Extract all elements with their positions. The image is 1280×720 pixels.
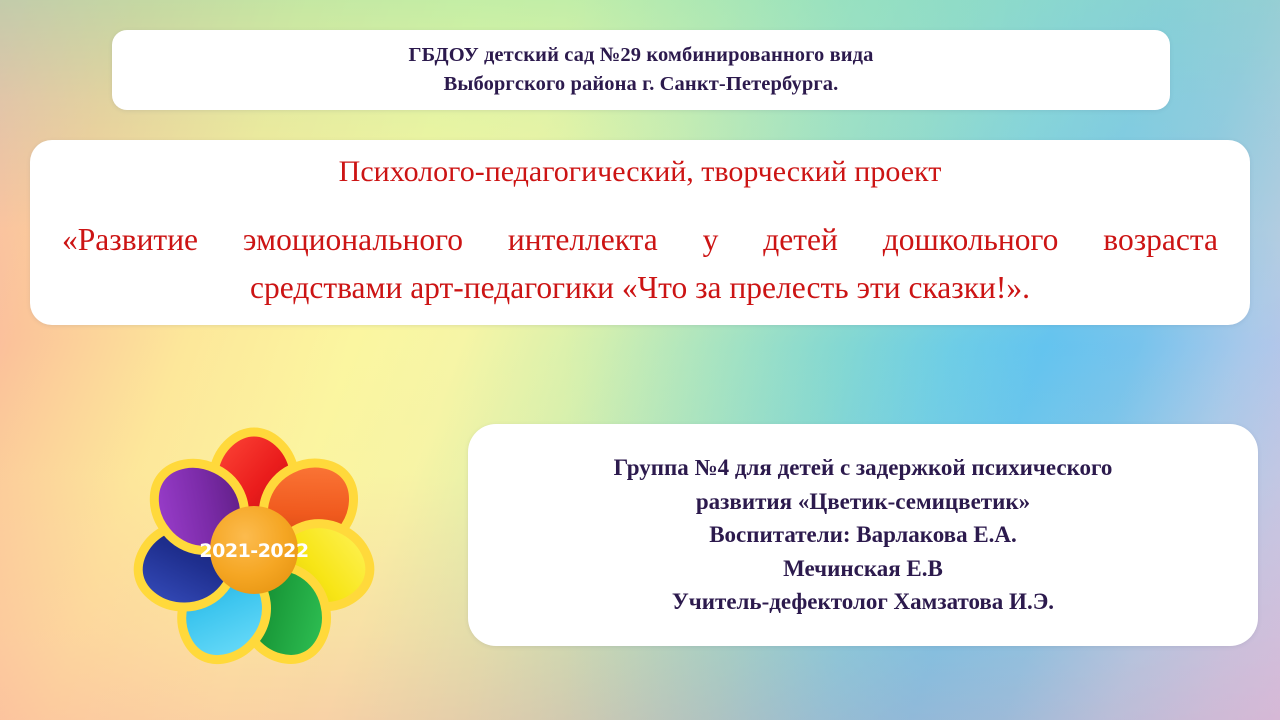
group-name-line-1: Группа №4 для детей с задержкой психичес… — [614, 451, 1113, 485]
flower-year-label: 2021-2022 — [199, 540, 308, 562]
teacher-line-2: Мечинская Е.В — [783, 552, 943, 586]
presentation-slide: ГБДОУ детский сад №29 комбинированного в… — [0, 0, 1280, 720]
institution-header-card: ГБДОУ детский сад №29 комбинированного в… — [112, 30, 1170, 110]
seven-color-flower-illustration: 2021-2022 — [118, 426, 390, 674]
group-info-card: Группа №4 для детей с задержкой психичес… — [468, 424, 1258, 646]
project-name: «Развитие эмоционального интеллекта у де… — [52, 216, 1228, 312]
project-name-line-2: средствами арт-педагогики «Что за прелес… — [52, 264, 1228, 312]
teacher-line-1: Воспитатели: Варлакова Е.А. — [709, 518, 1017, 552]
project-title-card: Психолого-педагогический, творческий про… — [30, 140, 1250, 325]
institution-name-line-1: ГБДОУ детский сад №29 комбинированного в… — [408, 41, 873, 70]
defectologist-line: Учитель-дефектолог Хамзатова И.Э. — [672, 585, 1054, 619]
institution-name-line-2: Выборгского района г. Санкт-Петербурга. — [444, 70, 839, 99]
project-name-line-1: «Развитие эмоционального интеллекта у де… — [52, 216, 1228, 264]
group-name-line-2: развития «Цветик-семицветик» — [696, 485, 1030, 519]
project-subject-line: Психолого-педагогический, творческий про… — [339, 154, 942, 190]
